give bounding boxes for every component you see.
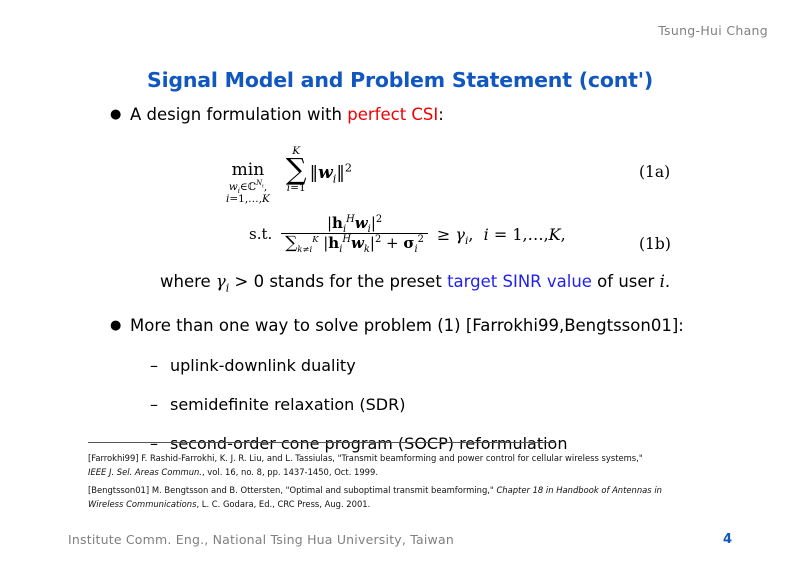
slide-title: Signal Model and Problem Statement (cont… xyxy=(0,68,800,92)
equation-tag-1a: (1a) xyxy=(639,163,670,181)
dash-marker-icon: – xyxy=(150,394,170,415)
objective-summand: ‖wi‖2 xyxy=(310,146,352,183)
highlight-perfect-csi: perfect CSI xyxy=(347,105,438,124)
where-suffix: of user xyxy=(592,272,660,291)
dash-marker-icon: – xyxy=(150,355,170,376)
where-middle: > 0 stands for the preset xyxy=(229,272,447,291)
bullet-item-2: ● More than one way to solve problem (1)… xyxy=(110,315,740,337)
bullet-item-2-text: More than one way to solve problem (1) [… xyxy=(130,315,740,337)
min-subscript-line-2: i=1,…,K xyxy=(226,194,270,205)
equation-1b: s.t. |hiHwi|2 ∑k≠iK |hiHwk|2 + σi2 ≥ γi,… xyxy=(249,216,566,253)
sinr-fraction: |hiHwi|2 ∑k≠iK |hiHwk|2 + σi2 xyxy=(281,216,428,253)
bullet-1-suffix: : xyxy=(438,105,444,124)
where-period: . xyxy=(665,272,670,291)
footnote-2-part1: M. Bengtsson and B. Ottersten, "Optimal … xyxy=(149,485,496,495)
sigma-glyph-icon: ∑ xyxy=(286,156,307,183)
summation-operator: K ∑ i=1 xyxy=(286,146,307,194)
sub-item-1-text: uplink-downlink duality xyxy=(170,355,356,376)
footnote-2-key: [Bengtsson01] xyxy=(88,485,149,495)
equation-tag-1b: (1b) xyxy=(639,235,671,253)
footnote-2-part2: , L. C. Godara, Ed., CRC Press, Aug. 200… xyxy=(196,499,370,509)
equation-1a: min wi∈ℂNt, i=1,…,K K ∑ i=1 ‖wi‖2 xyxy=(226,146,352,205)
footnote-1-italic: IEEE J. Sel. Areas Commun. xyxy=(88,467,202,477)
footnote-1-key: [Farrokhi99] xyxy=(88,453,139,463)
author-name: Tsung-Hui Chang xyxy=(658,23,768,38)
fraction-numerator: |hiHwi|2 xyxy=(323,216,386,233)
footnote-item-2: [Bengtsson01] M. Bengtsson and B. Otters… xyxy=(88,483,663,512)
min-operator-name: min xyxy=(232,162,265,179)
bullet-1-prefix: A design formulation with xyxy=(130,105,347,124)
highlight-target-sinr: target SINR value xyxy=(447,272,592,291)
sub-item-2: – semidefinite relaxation (SDR) xyxy=(150,394,800,415)
footer-institution: Institute Comm. Eng., National Tsing Hua… xyxy=(68,532,454,547)
footnote-list: [Farrokhi99] F. Rashid-Farrokhi, K. J. R… xyxy=(88,451,663,515)
footnote-1-part1: F. Rashid-Farrokhi, K. J. R. Liu, and L.… xyxy=(139,453,643,463)
slide-body: ● A design formulation with perfect CSI:… xyxy=(0,104,800,454)
fraction-denominator: ∑k≠iK |hiHwk|2 + σi2 xyxy=(281,234,428,253)
bullet-marker-icon: ● xyxy=(110,319,130,332)
where-clause: where γi > 0 stands for the preset targe… xyxy=(160,272,740,291)
footer-page-number: 4 xyxy=(723,532,732,547)
bullet-item-1: ● A design formulation with perfect CSI: xyxy=(110,104,740,126)
sub-item-1: – uplink-downlink duality xyxy=(150,355,800,376)
constraint-relation: ≥ γi, i = 1,…,K, xyxy=(437,225,566,244)
presentation-slide: Tsung-Hui Chang Signal Model and Problem… xyxy=(0,0,800,565)
bullet-item-1-text: A design formulation with perfect CSI: xyxy=(130,104,740,126)
bullet-marker-icon: ● xyxy=(110,108,130,121)
sub-item-2-text: semidefinite relaxation (SDR) xyxy=(170,394,405,415)
sum-lower-limit: i=1 xyxy=(287,183,306,194)
footnote-separator xyxy=(88,442,556,443)
where-prefix: where γi xyxy=(160,272,229,291)
min-subscript-line-1: wi∈ℂNt, xyxy=(229,182,267,193)
equation-block: min wi∈ℂNt, i=1,…,K K ∑ i=1 ‖wi‖2 (1a) s… xyxy=(0,140,800,272)
subject-to-label: s.t. xyxy=(249,225,272,243)
min-operator: min wi∈ℂNt, i=1,…,K xyxy=(226,146,270,205)
footnote-item-1: [Farrokhi99] F. Rashid-Farrokhi, K. J. R… xyxy=(88,451,663,480)
footnote-1-part2: , vol. 16, no. 8, pp. 1437-1450, Oct. 19… xyxy=(202,467,378,477)
